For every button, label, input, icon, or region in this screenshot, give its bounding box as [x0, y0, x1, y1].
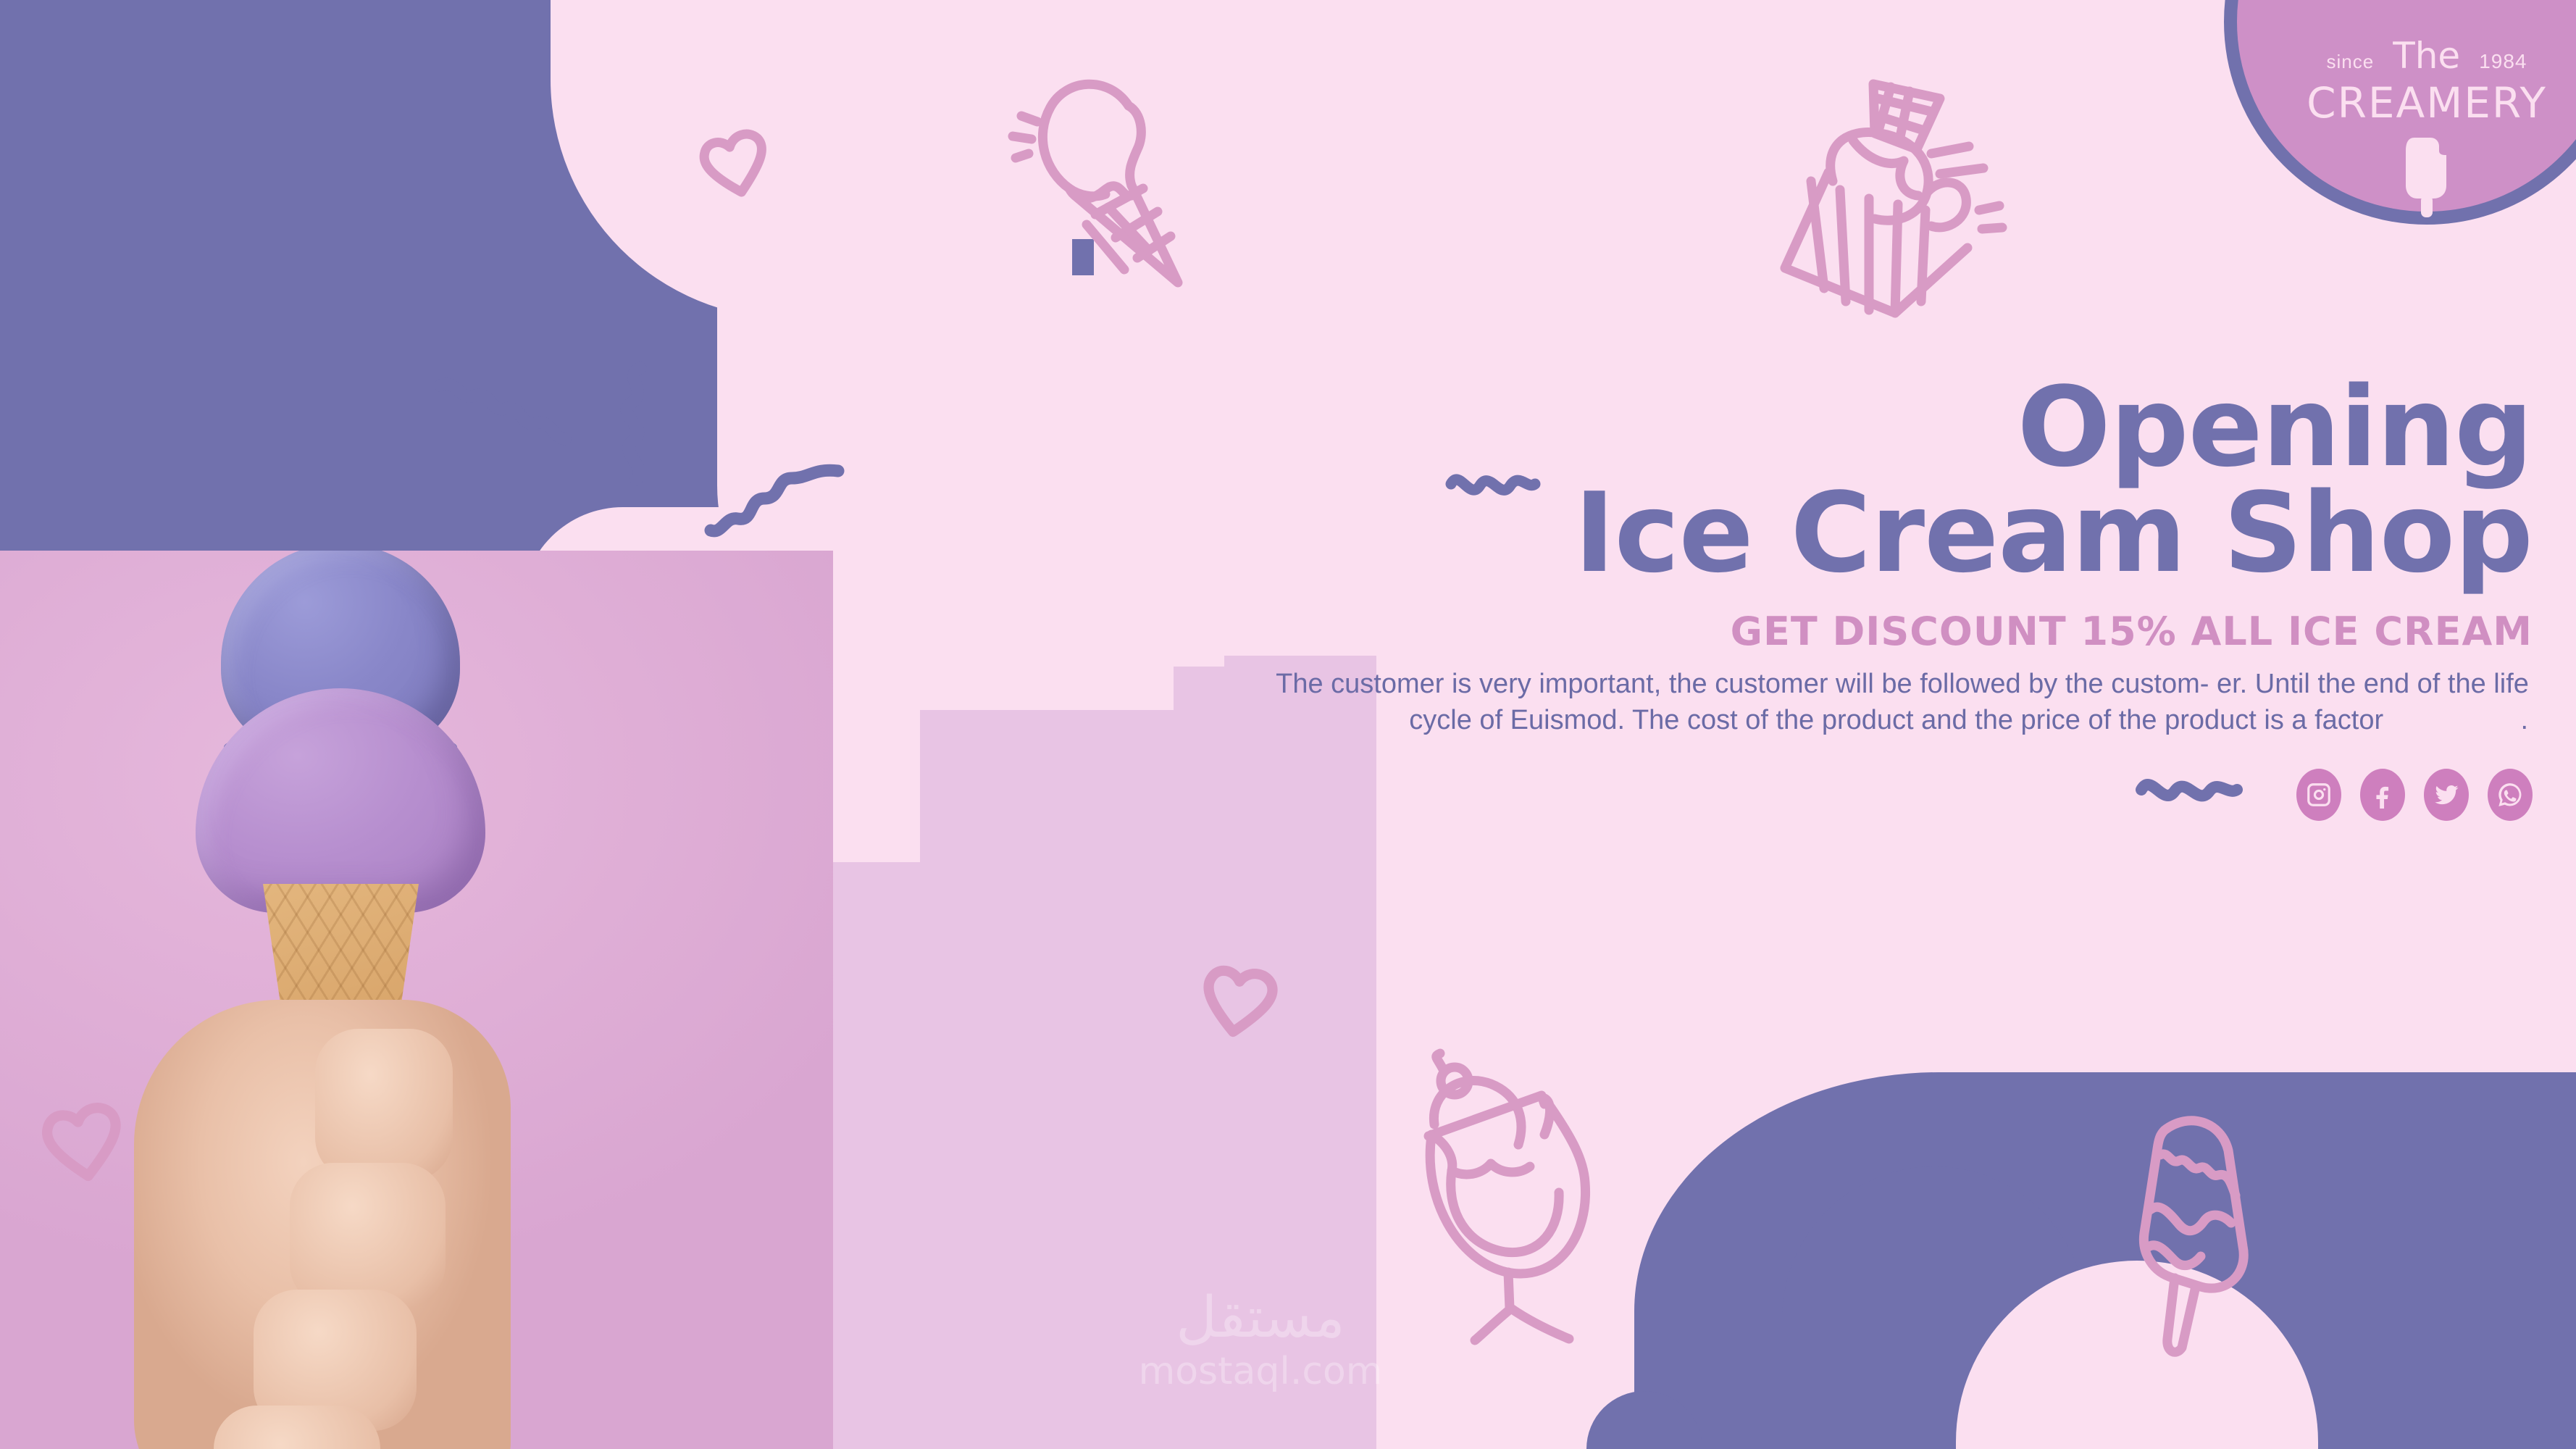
squiggle-icon-right	[706, 464, 844, 543]
ice-cream-cone-outline-icon	[1000, 43, 1304, 319]
body-line-1: The customer is very important, the cust…	[1276, 669, 2209, 699]
body-copy: The customer is very important, the cust…	[1272, 666, 2533, 738]
instagram-icon	[2305, 781, 2333, 809]
heart-outline-icon-bottom	[36, 1094, 130, 1188]
discount-subheadline: GET DISCOUNT 15% ALL ICE CREAM	[1272, 609, 2533, 654]
banner-canvas: since The 1984 CREAMERY VIRTUE ICE Openi…	[0, 0, 2576, 1449]
logo-badge[interactable]: since The 1984 CREAMERY VIRTUE ICE	[2224, 0, 2576, 225]
cone-assembly	[177, 551, 554, 1449]
cupcake-outline-icon	[1753, 58, 2014, 319]
heart-outline-icon-mid	[1195, 956, 1282, 1043]
finger-4	[214, 1406, 380, 1449]
ice-cream-photo	[0, 551, 833, 1449]
logo-tagline: VIRTUE ICE	[2237, 36, 2576, 217]
squiggle-icon-center	[607, 362, 672, 485]
heart-outline-icon-top	[695, 123, 775, 203]
whatsapp-icon	[2496, 781, 2524, 809]
body-trailing-period: .	[2520, 702, 2528, 738]
social-link-facebook[interactable]	[2360, 769, 2405, 821]
squiggle-icon-social	[2134, 771, 2243, 818]
finger-1	[315, 1029, 453, 1181]
twitter-icon	[2433, 781, 2460, 809]
popsicle-outline-icon	[2094, 1108, 2282, 1369]
facebook-icon	[2369, 781, 2396, 809]
squiggle-icon-left	[435, 377, 580, 464]
body-line-3: price of the product is a factor	[2021, 705, 2384, 735]
headline-line-1: Opening	[1272, 377, 2533, 478]
social-link-instagram[interactable]	[2296, 769, 2341, 821]
headline-line-2: Ice Cream Shop	[1272, 483, 2533, 584]
social-link-twitter[interactable]	[2424, 769, 2469, 821]
social-link-whatsapp[interactable]	[2488, 769, 2533, 821]
content-panel: Opening Ice Cream Shop GET DISCOUNT 15% …	[1272, 377, 2533, 821]
page-title: Opening Ice Cream Shop	[1272, 377, 2533, 584]
sundae-glass-outline-icon	[1376, 1029, 1623, 1348]
social-links	[1272, 769, 2533, 821]
hand	[134, 1000, 511, 1449]
finger-2	[290, 1163, 446, 1308]
